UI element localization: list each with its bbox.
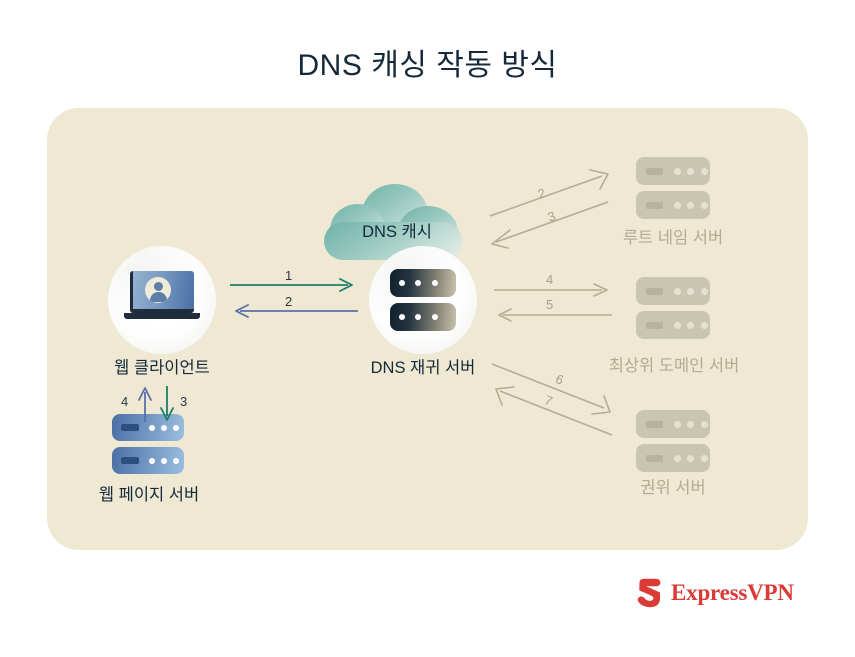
laptop-user-icon (124, 269, 200, 331)
root-name-server-label: 루트 네임 서버 (598, 224, 748, 248)
web-page-server-node[interactable] (112, 414, 184, 474)
arrow-client-to-webpage (160, 386, 174, 422)
step-number-webpage-to-client: 4 (121, 394, 128, 409)
step-number-recursive-to-client: 2 (285, 294, 292, 309)
server-icon (390, 269, 456, 331)
arrow-client-to-recursive (230, 278, 358, 292)
expressvpn-e-icon (636, 578, 662, 608)
root-name-server-node[interactable] (636, 157, 710, 219)
arrow-webpage-to-client (138, 386, 152, 422)
page-title: DNS 캐싱 작동 방식 (0, 40, 855, 84)
dns-recursive-server-node[interactable] (369, 246, 477, 354)
authoritative-server-label: 권위 서버 (612, 474, 734, 498)
authoritative-server-node[interactable] (636, 410, 710, 472)
expressvpn-wordmark: ExpressVPN (671, 580, 794, 606)
step-number-client-to-webpage: 3 (180, 394, 187, 409)
arrow-recursive-to-client (230, 304, 358, 318)
dns-cache-label: DNS 캐시 (324, 218, 470, 242)
expressvpn-logo[interactable]: ExpressVPN (636, 578, 794, 608)
arrow-root-to-recursive (486, 198, 608, 248)
step-number-client-to-recursive: 1 (285, 268, 292, 283)
web-client-node[interactable] (108, 246, 216, 354)
web-client-label: 웹 클라이언트 (92, 354, 232, 378)
tld-server-node[interactable] (636, 277, 710, 339)
step-number-tld-to-recursive: 5 (546, 297, 553, 312)
dns-recursive-server-label: DNS 재귀 서버 (348, 354, 498, 378)
web-page-server-label: 웹 페이지 서버 (78, 481, 220, 505)
step-number-recursive-to-tld: 4 (546, 272, 553, 287)
